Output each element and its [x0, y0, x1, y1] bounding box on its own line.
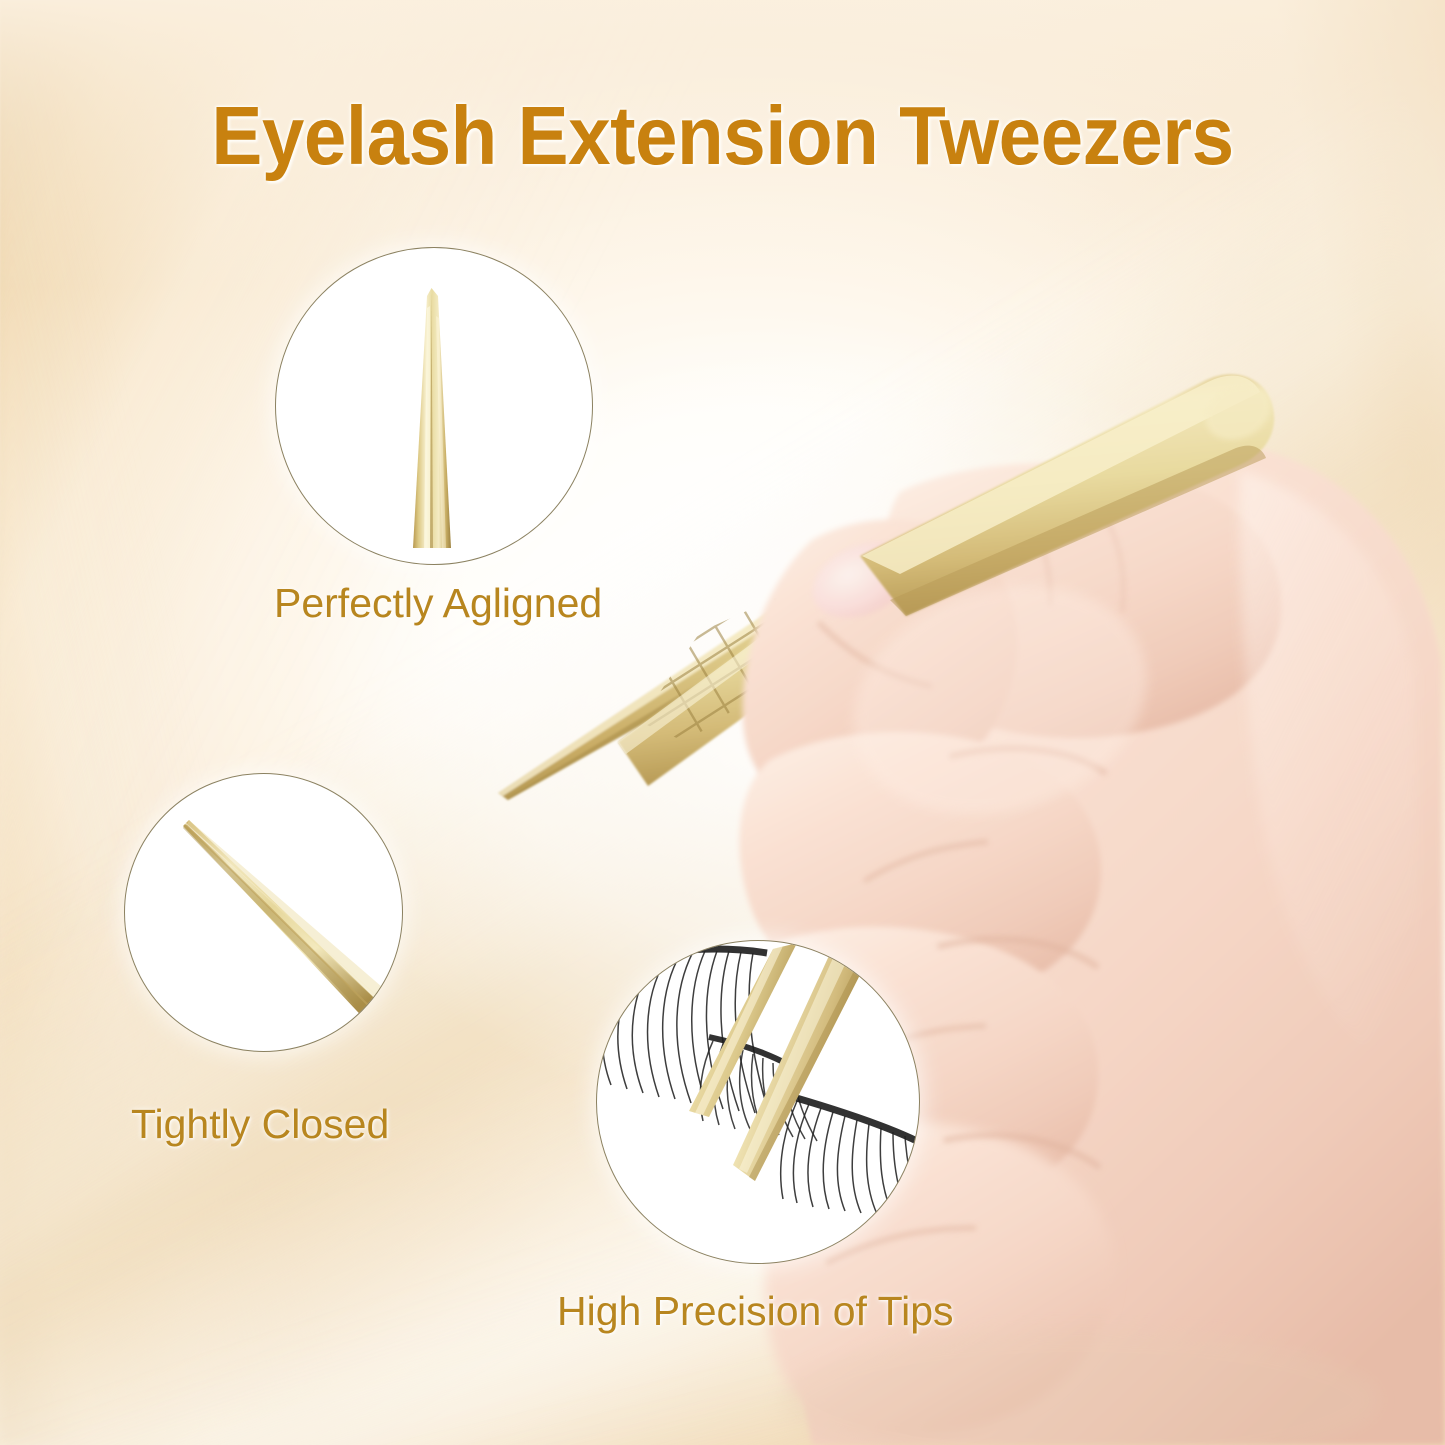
feature-caption-tips: High Precision of Tips	[557, 1288, 954, 1335]
page-title: Eyelash Extension Tweezers	[58, 88, 1387, 184]
feature-circle-aligned	[275, 247, 593, 565]
feature-caption-closed: Tightly Closed	[131, 1101, 389, 1148]
feature-caption-aligned: Perfectly Agligned	[274, 580, 602, 627]
product-infographic: Perfectly Agligned Tightly Closed	[0, 0, 1445, 1445]
feature-circle-closed	[124, 773, 403, 1052]
feature-circle-tips	[596, 940, 920, 1264]
